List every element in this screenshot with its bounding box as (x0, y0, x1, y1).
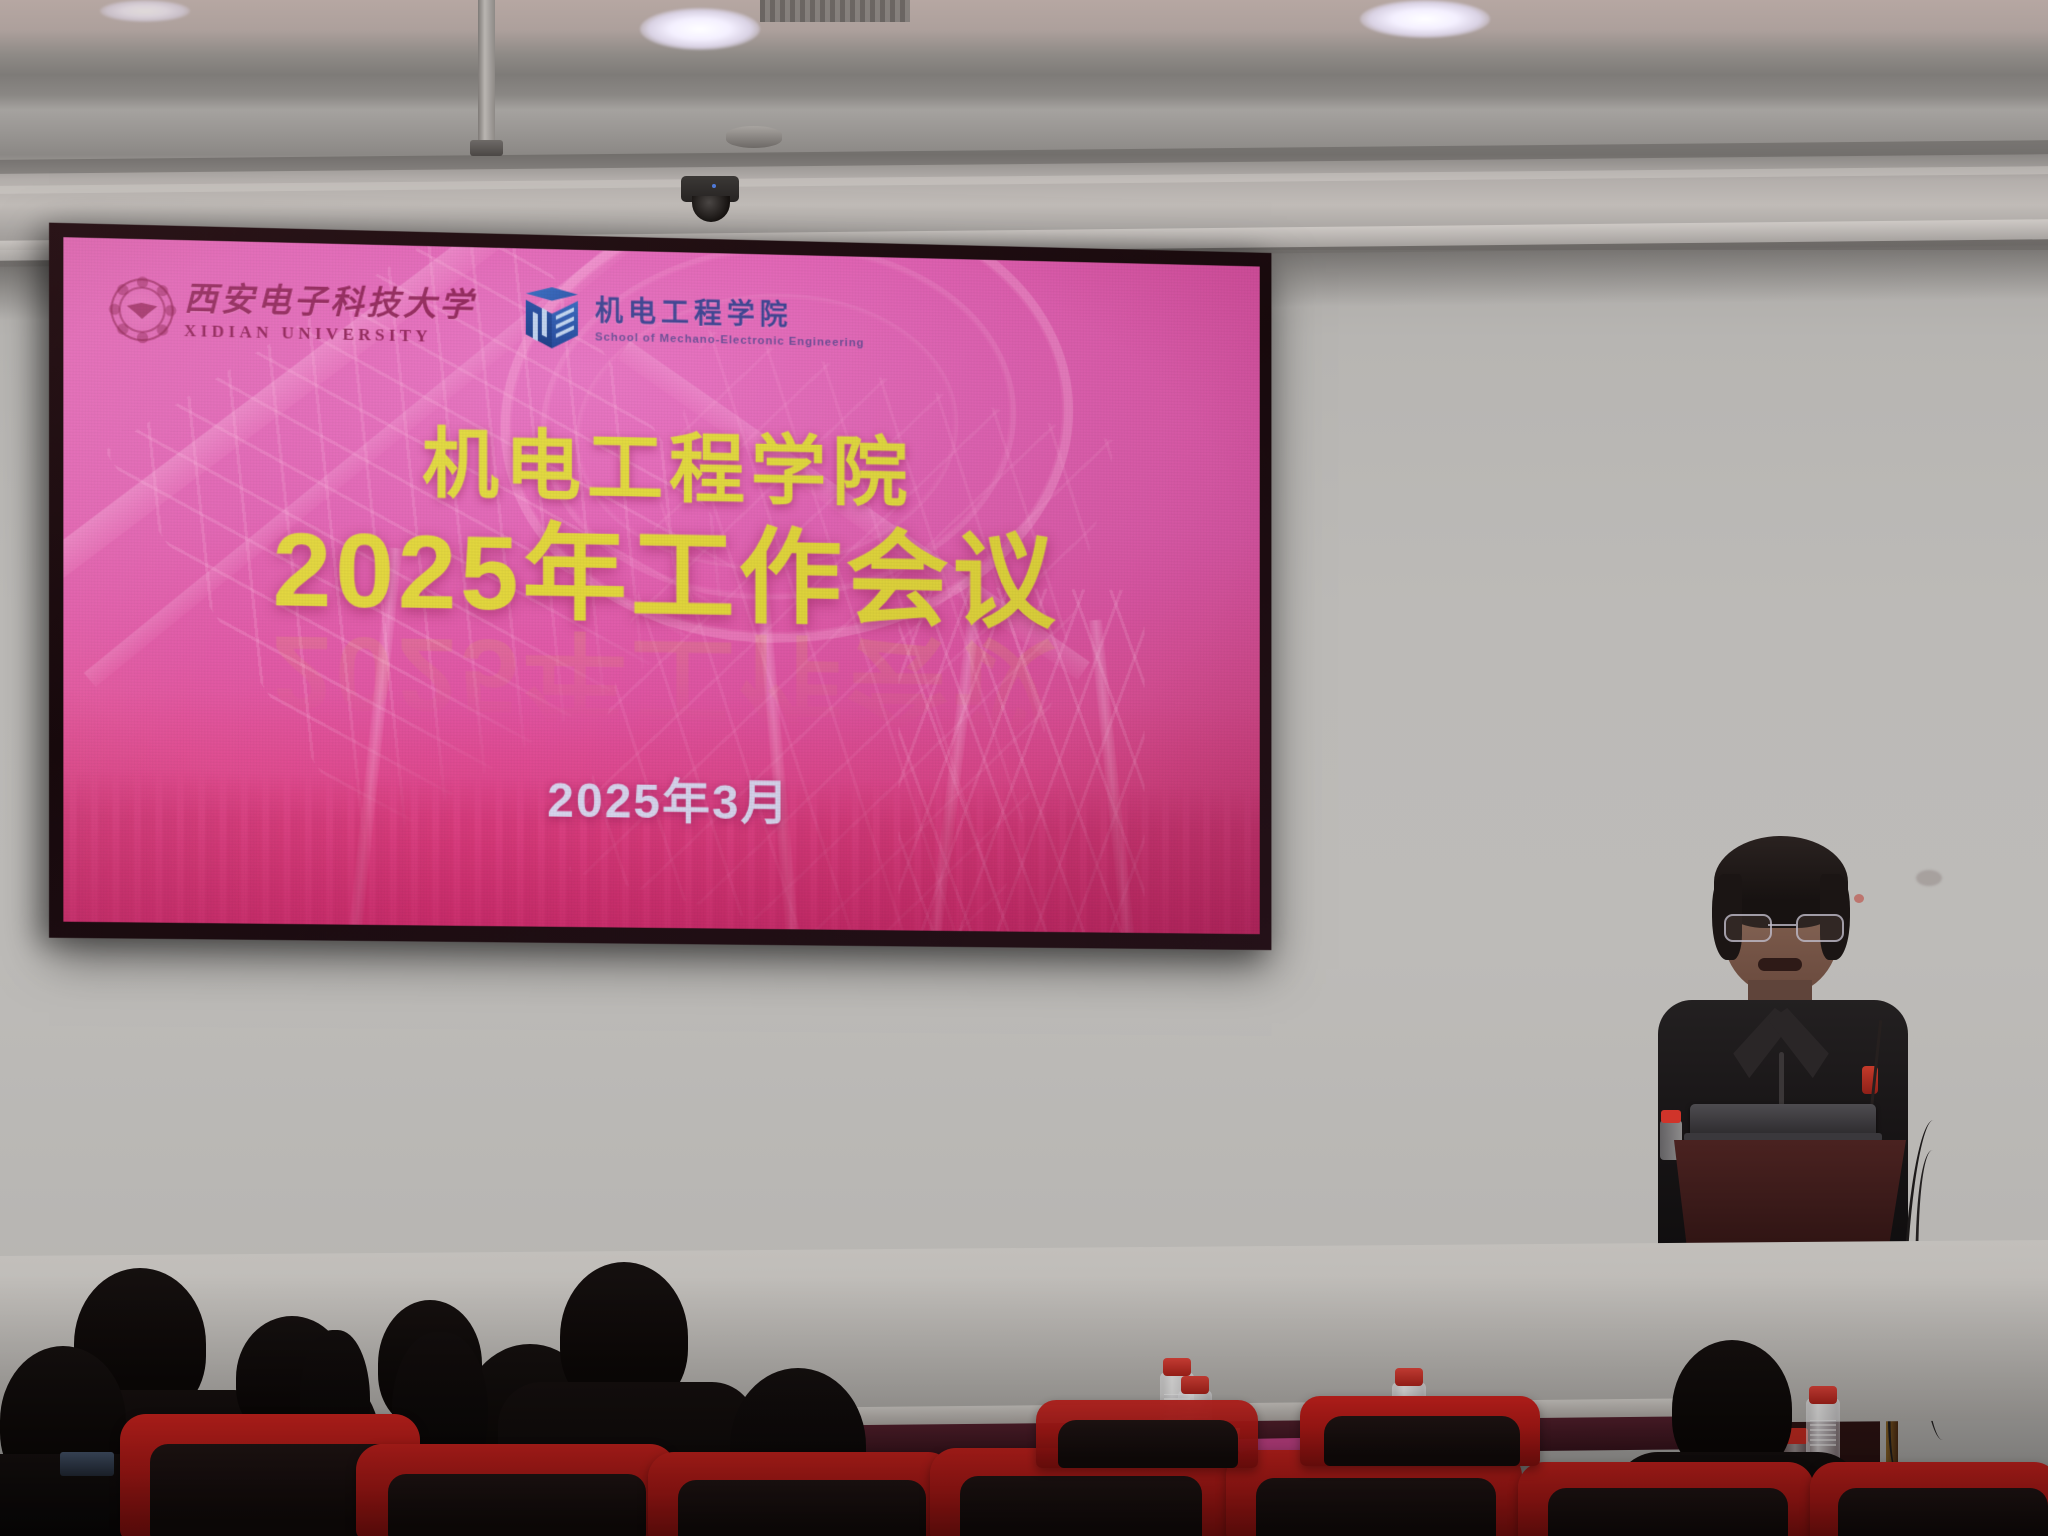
ceiling-vent-icon (760, 0, 910, 22)
podium-top (1674, 1140, 1906, 1256)
phone-screen-icon[interactable] (60, 1452, 114, 1476)
water-bottle-cap (1181, 1376, 1209, 1394)
xidian-university-seal-icon (110, 278, 173, 342)
ceiling-light-icon (640, 8, 760, 50)
ceiling (0, 0, 2048, 250)
auditorium-seat-cushion (960, 1476, 1202, 1536)
slide-date: 2025年3月 (63, 754, 1259, 840)
university-name-en: XIDIAN UNIVERSITY (184, 321, 476, 345)
school-name-en: School of Mechano-Electronic Engineering (595, 332, 864, 350)
eyeglasses-icon (1724, 914, 1840, 940)
led-screen-bezel: 西安电子科技大学 XIDIAN UNIVERSITY 机电工程学院 School… (49, 223, 1271, 950)
auditorium-seat-cushion (1058, 1420, 1238, 1468)
camera-led-icon (712, 184, 716, 188)
auditorium-seat-cushion (678, 1480, 926, 1536)
water-bottle-cap (1163, 1358, 1191, 1376)
smoke-detector-icon (726, 126, 782, 148)
university-name-cn: 西安电子科技大学 (184, 283, 476, 323)
ceiling-light-icon (1360, 0, 1490, 38)
auditorium-seat-cushion (1838, 1488, 2048, 1536)
hanging-pipe-cap (470, 140, 503, 156)
hanging-pipe-icon (478, 0, 495, 148)
university-name-block: 西安电子科技大学 XIDIAN UNIVERSITY (184, 283, 476, 345)
slide-title-reflection: 2025年工作会议 (63, 613, 1259, 741)
auditorium-seat-cushion (1548, 1488, 1788, 1536)
auditorium-seat-cushion (1324, 1416, 1520, 1466)
presenter-mouth (1758, 958, 1802, 971)
water-bottle-cap (1809, 1386, 1837, 1404)
school-name-cn: 机电工程学院 (595, 297, 864, 331)
water-bottle-cap (1661, 1110, 1681, 1123)
auditorium-seat-cushion (1256, 1478, 1496, 1536)
led-screen[interactable]: 西安电子科技大学 XIDIAN UNIVERSITY 机电工程学院 School… (63, 237, 1259, 934)
water-bottle-cap (1395, 1368, 1423, 1386)
school-name-block: 机电工程学院 School of Mechano-Electronic Engi… (595, 297, 864, 350)
auditorium-seat-cushion (388, 1474, 646, 1536)
screenshot-stage: 西安电子科技大学 XIDIAN UNIVERSITY 机电工程学院 School… (0, 0, 2048, 1536)
ceiling-light-icon (100, 0, 190, 22)
slide-title-block: 机电工程学院 2025年工作会议 2025年工作会议 2025年3月 (63, 417, 1259, 839)
me-cube-logo-icon (522, 287, 582, 353)
